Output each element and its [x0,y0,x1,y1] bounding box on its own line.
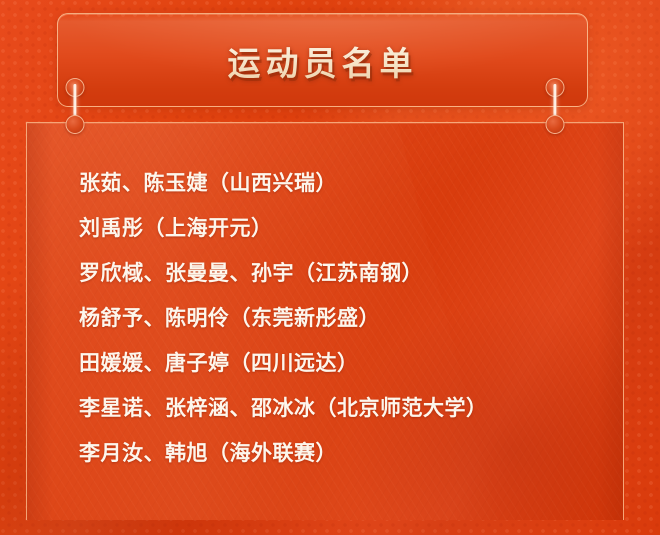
list-item: 田媛媛、唐子婷（四川远达） [79,353,623,374]
connector-pin-right [544,78,566,134]
pin-cap-bottom-icon [66,115,85,134]
header-plaque: 运动员名单 [57,13,588,107]
list-item: 杨舒予、陈明伶（东莞新彤盛） [79,308,623,329]
roster-panel: 张茹、陈玉婕（山西兴瑞） 刘禹彤（上海开元） 罗欣棫、张曼曼、孙宇（江苏南钢） … [26,122,624,520]
list-item: 李星诺、张梓涵、邵冰冰（北京师范大学） [79,398,623,419]
list-item: 李月汝、韩旭（海外联赛） [79,443,623,464]
athlete-list: 张茹、陈玉婕（山西兴瑞） 刘禹彤（上海开元） 罗欣棫、张曼曼、孙宇（江苏南钢） … [27,123,623,464]
athlete-roster-poster: 运动员名单 张茹、陈玉婕（山西兴瑞） 刘禹彤（上海开元） 罗欣棫、张曼曼、孙宇（… [0,0,660,535]
connector-pin-left [64,78,86,134]
list-item: 张茹、陈玉婕（山西兴瑞） [79,173,623,194]
list-item: 刘禹彤（上海开元） [79,218,623,239]
page-title: 运动员名单 [228,37,418,85]
list-item: 罗欣棫、张曼曼、孙宇（江苏南钢） [79,263,623,284]
pin-cap-bottom-icon [546,115,565,134]
